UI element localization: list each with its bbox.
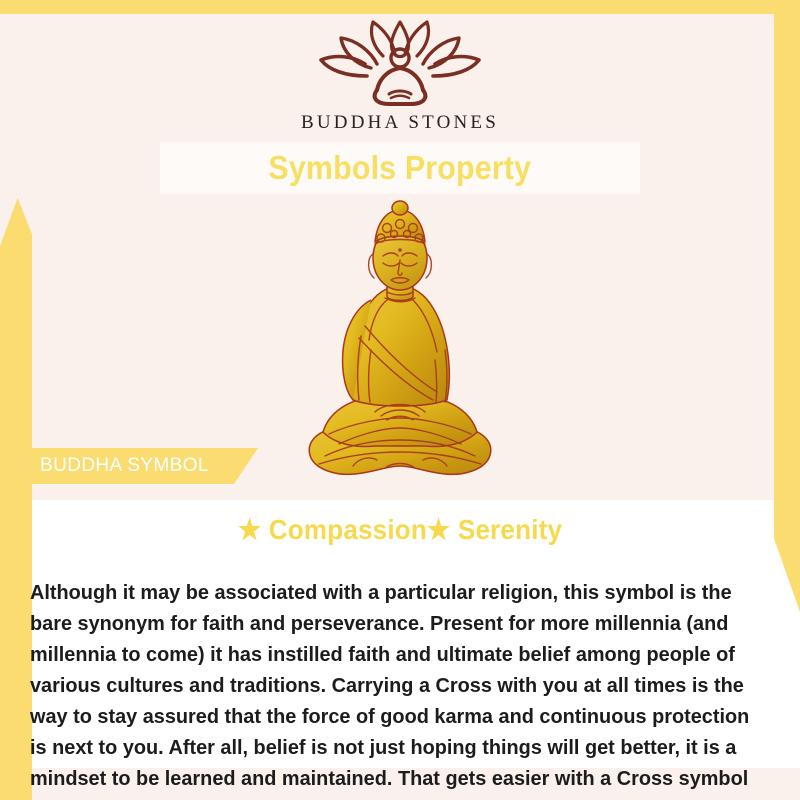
section-body-text: Although it may be associated with a par…: [30, 577, 750, 800]
buddha-symbol-tag: BUDDHA SYMBOL: [18, 448, 258, 484]
seated-buddha-statue-icon: [295, 200, 505, 490]
frame-top-bar: [0, 0, 800, 14]
section-heading: ★ Compassion★ Serenity: [28, 513, 772, 546]
title-banner: Symbols Property: [160, 142, 640, 194]
frame-left-bar: [0, 198, 32, 800]
promo-banner-page: BUDDHA STONES Symbols Property: [0, 0, 800, 800]
lotus-meditation-icon: [305, 16, 495, 108]
brand-logo: BUDDHA STONES: [0, 16, 800, 134]
buddha-symbol-tag-label: BUDDHA SYMBOL: [40, 455, 209, 477]
page-title: Symbols Property: [269, 149, 532, 187]
brand-name: BUDDHA STONES: [301, 112, 499, 134]
buddha-illustration: [295, 200, 505, 490]
